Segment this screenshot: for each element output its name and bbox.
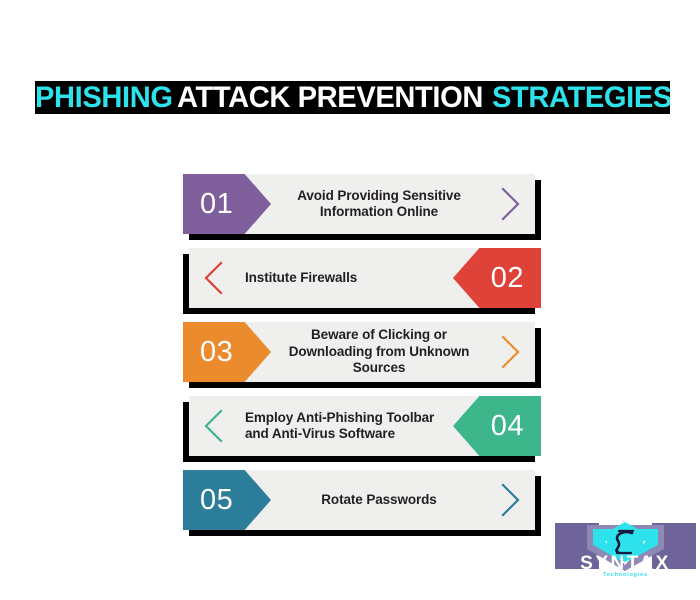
step-bar: 05 Rotate Passwords xyxy=(183,470,535,530)
step-bar: 02 Institute Firewalls xyxy=(189,248,541,308)
step-row-02[interactable]: 02 Institute Firewalls xyxy=(183,248,541,308)
step-bar: 01 Avoid Providing Sensitive Information… xyxy=(183,174,535,234)
step-row-05[interactable]: 05 Rotate Passwords xyxy=(183,470,541,530)
page-title: PHISHING ATTACK PREVENTION STRATEGIES xyxy=(35,81,670,114)
chevron-left-icon xyxy=(193,396,233,456)
step-number-label: 03 xyxy=(200,336,233,369)
step-number-badge-02: 02 xyxy=(453,248,541,308)
page-title-plain: ATTACK PREVENTION xyxy=(177,83,483,113)
steps-list: 01 Avoid Providing Sensitive Information… xyxy=(183,174,541,530)
step-number-label: 01 xyxy=(200,188,233,221)
step-number-label: 04 xyxy=(491,410,524,443)
step-text-05: Rotate Passwords xyxy=(279,470,479,530)
chevron-right-icon xyxy=(491,322,531,382)
step-bar: 04 Employ Anti-Phishing Toolbar and Anti… xyxy=(189,396,541,456)
chevron-right-icon xyxy=(491,174,531,234)
brand-logo: SYNTAX Technologies xyxy=(553,519,698,585)
page-title-accent-1: PHISHING xyxy=(35,83,173,113)
logo-tagline: Technologies xyxy=(553,572,698,578)
step-number-label: 05 xyxy=(200,484,233,517)
step-number-badge-05: 05 xyxy=(183,470,271,530)
step-row-01[interactable]: 01 Avoid Providing Sensitive Information… xyxy=(183,174,541,234)
chevron-right-icon xyxy=(491,470,531,530)
chevron-left-icon xyxy=(193,248,233,308)
step-row-04[interactable]: 04 Employ Anti-Phishing Toolbar and Anti… xyxy=(183,396,541,456)
step-number-badge-03: 03 xyxy=(183,322,271,382)
step-text-03: Beware of Clicking or Downloading from U… xyxy=(279,322,479,382)
step-text-04: Employ Anti-Phishing Toolbar and Anti-Vi… xyxy=(245,396,450,456)
page-title-accent-2: STRATEGIES xyxy=(492,83,670,113)
step-number-badge-01: 01 xyxy=(183,174,271,234)
step-row-03[interactable]: 03 Beware of Clicking or Downloading fro… xyxy=(183,322,541,382)
step-text-02: Institute Firewalls xyxy=(245,248,450,308)
step-number-label: 02 xyxy=(491,262,524,295)
step-number-badge-04: 04 xyxy=(453,396,541,456)
step-text-01: Avoid Providing Sensitive Information On… xyxy=(279,174,479,234)
step-bar: 03 Beware of Clicking or Downloading fro… xyxy=(183,322,535,382)
